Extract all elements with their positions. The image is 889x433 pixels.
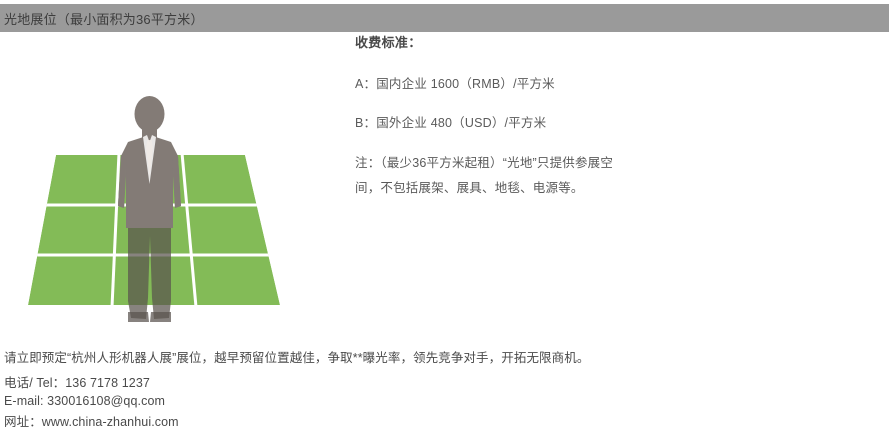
pricing-heading: 收费标准： bbox=[355, 32, 755, 51]
page-title: 光地展位（最小面积为36平方米） bbox=[0, 9, 204, 28]
raw-space-grid-figure-graphic bbox=[0, 36, 330, 336]
footer-website: 网址：www.china-zhanhui.com bbox=[4, 411, 884, 430]
section-header-bar: 光地展位（最小面积为36平方米） bbox=[0, 4, 889, 32]
pricing-line-overseas: B：国外企业 480（USD）/平方米 bbox=[355, 112, 755, 131]
footer-email: E-mail: 330016108@qq.com bbox=[4, 394, 884, 408]
pricing-line-domestic: A：国内企业 1600（RMB）/平方米 bbox=[355, 73, 755, 92]
footer-phone: 电话/ Tel：136 7178 1237 bbox=[4, 372, 884, 391]
footer-contact-block: 请立即预定“杭州人形机器人展”展位，越早预留位置越佳，争取**曝光率，领先竞争对… bbox=[4, 347, 884, 433]
footer-call-to-action: 请立即预定“杭州人形机器人展”展位，越早预留位置越佳，争取**曝光率，领先竞争对… bbox=[4, 347, 884, 366]
pricing-panel: 收费标准： A：国内企业 1600（RMB）/平方米 B：国外企业 480（US… bbox=[355, 32, 755, 201]
booth-illustration bbox=[0, 36, 330, 336]
pricing-note: 注：（最少36平方米起租）“光地”只提供参展空间，不包括展架、展具、地毯、电源等… bbox=[355, 151, 623, 201]
